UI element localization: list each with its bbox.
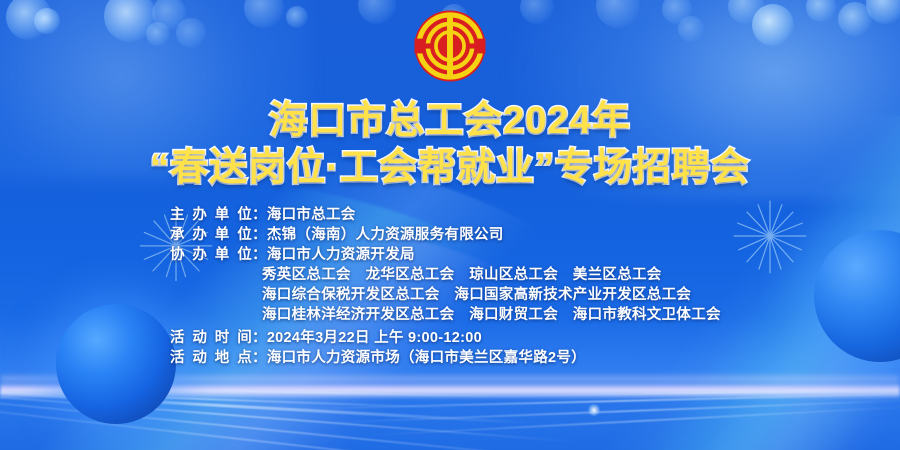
place-value: 海口市人力资源市场（海口市美兰区嘉华路2号） xyxy=(267,348,730,368)
undertaker-label: 承办单位 xyxy=(170,225,252,245)
page-title-line1: 海口市总工会2024年 xyxy=(0,100,900,143)
coorganizer-label: 协办单位 xyxy=(170,245,252,265)
event-details: 主办单位 ： 海口市总工会 承办单位 ： 杰锦（海南）人力资源服务有限公司 协办… xyxy=(0,205,900,368)
organizer-label: 主办单位 xyxy=(170,205,252,225)
page-title-line2: “春送岗位·工会帮就业”专场招聘会 xyxy=(0,147,900,190)
place-label: 活动地点 xyxy=(170,348,252,368)
coorganizer-list-line: 海口桂林洋经济开发区总工会 海口财贸工会 海口市教科文卫体工会 xyxy=(262,305,721,325)
time-label: 活动时间 xyxy=(170,328,252,348)
poster-title-group: 海口市总工会2024年 “春送岗位·工会帮就业”专场招聘会 xyxy=(0,100,900,189)
detail-row-place: 活动地点 ： 海口市人力资源市场（海口市美兰区嘉华路2号） xyxy=(170,348,730,368)
place-colon: ： xyxy=(252,348,267,368)
organizer-value: 海口市总工会 xyxy=(267,205,730,225)
coorganizer-list-line: 海口综合保税开发区总工会 海口国家高新技术产业开发区总工会 xyxy=(262,285,691,305)
time-value: 2024年3月22日 上午 9:00-12:00 xyxy=(267,328,730,348)
organizer-colon: ： xyxy=(252,205,267,225)
undertaker-value: 杰锦（海南）人力资源服务有限公司 xyxy=(267,225,730,245)
acftu-union-emblem-icon xyxy=(413,9,487,83)
time-colon: ： xyxy=(252,328,267,348)
coorganizer-value: 海口市人力资源开发局 xyxy=(267,245,730,265)
detail-row-organizer: 主办单位 ： 海口市总工会 xyxy=(170,205,730,225)
detail-row-coorganizer-cont-3: 海口桂林洋经济开发区总工会 海口财贸工会 海口市教科文卫体工会 xyxy=(170,305,730,325)
poster-content: 海口市总工会2024年 “春送岗位·工会帮就业”专场招聘会 主办单位 ： 海口市… xyxy=(0,0,900,450)
detail-row-coorganizer-cont-1: 秀英区总工会 龙华区总工会 琼山区总工会 美兰区总工会 xyxy=(170,265,730,285)
coorganizer-colon: ： xyxy=(252,245,267,265)
coorganizer-list-line: 秀英区总工会 龙华区总工会 琼山区总工会 美兰区总工会 xyxy=(262,265,662,285)
undertaker-colon: ： xyxy=(252,225,267,245)
detail-row-time: 活动时间 ： 2024年3月22日 上午 9:00-12:00 xyxy=(170,328,730,348)
detail-row-coorganizer: 协办单位 ： 海口市人力资源开发局 xyxy=(170,245,730,265)
detail-row-coorganizer-cont-2: 海口综合保税开发区总工会 海口国家高新技术产业开发区总工会 xyxy=(170,285,730,305)
detail-row-undertaker: 承办单位 ： 杰锦（海南）人力资源服务有限公司 xyxy=(170,225,730,245)
recruitment-fair-poster: 海口市总工会2024年 “春送岗位·工会帮就业”专场招聘会 主办单位 ： 海口市… xyxy=(0,0,900,450)
